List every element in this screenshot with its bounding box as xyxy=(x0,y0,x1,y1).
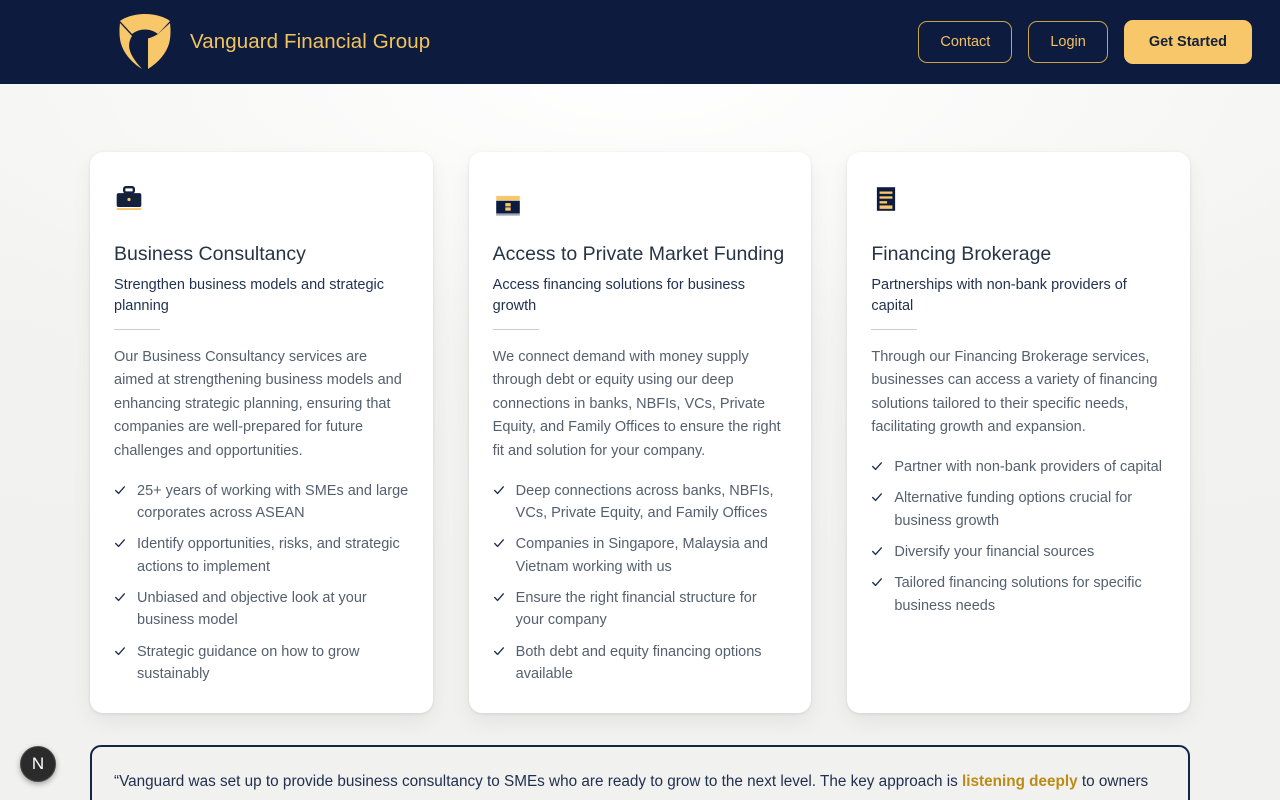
card-subtitle: Strengthen business models and strategic… xyxy=(114,275,409,316)
list-item: Companies in Singapore, Malaysia and Vie… xyxy=(493,533,788,578)
contact-button[interactable]: Contact xyxy=(918,21,1012,64)
briefcase-icon xyxy=(114,184,144,214)
check-icon xyxy=(871,545,883,557)
brand-name: Vanguard Financial Group xyxy=(190,30,430,54)
check-icon xyxy=(871,460,883,472)
page-content: Business Consultancy Strengthen business… xyxy=(0,84,1280,800)
feature-text: Ensure the right financial structure for… xyxy=(516,587,788,632)
list-item: 25+ years of working with SMEs and large… xyxy=(114,480,409,525)
login-button[interactable]: Login xyxy=(1028,21,1107,64)
feature-list: 25+ years of working with SMEs and large… xyxy=(114,480,409,686)
service-card-private-market-funding[interactable]: Access to Private Market Funding Access … xyxy=(469,152,812,713)
check-icon xyxy=(114,645,126,657)
feature-text: Deep connections across banks, NBFIs, VC… xyxy=(516,480,788,525)
card-body: Our Business Consultancy services are ai… xyxy=(114,346,409,464)
card-subtitle: Partnerships with non-bank providers of … xyxy=(871,275,1166,316)
feature-text: Diversify your financial sources xyxy=(894,541,1166,563)
card-title: Access to Private Market Funding xyxy=(493,242,788,266)
card-divider xyxy=(114,329,160,330)
founder-quote-box: “Vanguard was set up to provide business… xyxy=(90,745,1190,800)
quote-text: “Vanguard was set up to provide business… xyxy=(114,769,1166,800)
card-divider xyxy=(871,329,917,330)
service-card-business-consultancy[interactable]: Business Consultancy Strengthen business… xyxy=(90,152,433,713)
check-icon xyxy=(493,591,505,603)
services-cards-row: Business Consultancy Strengthen business… xyxy=(90,152,1190,713)
feature-text: Strategic guidance on how to grow sustai… xyxy=(137,641,409,686)
check-icon xyxy=(114,484,126,496)
feature-text: Identify opportunities, risks, and strat… xyxy=(137,533,409,578)
feature-text: Unbiased and objective look at your busi… xyxy=(137,587,409,632)
get-started-button[interactable]: Get Started xyxy=(1124,20,1252,65)
check-icon xyxy=(871,576,883,588)
list-item: Partner with non-bank providers of capit… xyxy=(871,456,1166,478)
card-title: Business Consultancy xyxy=(114,242,409,266)
card-subtitle: Access financing solutions for business … xyxy=(493,275,788,316)
card-title: Financing Brokerage xyxy=(871,242,1166,266)
card-body: Through our Financing Brokerage services… xyxy=(871,346,1166,441)
site-header: Vanguard Financial Group Contact Login G… xyxy=(0,0,1280,84)
feature-text: Tailored financing solutions for specifi… xyxy=(894,572,1166,617)
quote-part-1: “Vanguard was set up to provide business… xyxy=(114,773,962,790)
list-item: Deep connections across banks, NBFIs, VC… xyxy=(493,480,788,525)
service-card-financing-brokerage[interactable]: Financing Brokerage Partnerships with no… xyxy=(847,152,1190,713)
check-icon xyxy=(493,484,505,496)
feature-list: Partner with non-bank providers of capit… xyxy=(871,456,1166,617)
feature-text: Both debt and equity financing options a… xyxy=(516,641,788,686)
check-icon xyxy=(493,537,505,549)
feature-text: Alternative funding options crucial for … xyxy=(894,487,1166,532)
check-icon xyxy=(871,491,883,503)
list-item: Diversify your financial sources xyxy=(871,541,1166,563)
header-actions: Contact Login Get Started xyxy=(918,20,1252,65)
list-item: Ensure the right financial structure for… xyxy=(493,587,788,632)
nextjs-dev-indicator-badge[interactable]: N xyxy=(20,746,56,782)
list-item: Identify opportunities, risks, and strat… xyxy=(114,533,409,578)
feature-text: Companies in Singapore, Malaysia and Vie… xyxy=(516,533,788,578)
check-icon xyxy=(114,537,126,549)
list-item: Strategic guidance on how to grow sustai… xyxy=(114,641,409,686)
check-icon xyxy=(493,645,505,657)
brand[interactable]: Vanguard Financial Group xyxy=(118,12,430,72)
quote-highlight-1: listening deeply xyxy=(962,773,1078,790)
list-item: Tailored financing solutions for specifi… xyxy=(871,572,1166,617)
wallet-icon xyxy=(493,190,523,220)
document-list-icon xyxy=(871,184,901,214)
list-item: Alternative funding options crucial for … xyxy=(871,487,1166,532)
card-divider xyxy=(493,329,539,330)
card-body: We connect demand with money supply thro… xyxy=(493,346,788,464)
check-icon xyxy=(114,591,126,603)
shield-logo-icon xyxy=(118,12,172,72)
feature-list: Deep connections across banks, NBFIs, VC… xyxy=(493,480,788,686)
feature-text: Partner with non-bank providers of capit… xyxy=(894,456,1166,478)
list-item: Unbiased and objective look at your busi… xyxy=(114,587,409,632)
feature-text: 25+ years of working with SMEs and large… xyxy=(137,480,409,525)
list-item: Both debt and equity financing options a… xyxy=(493,641,788,686)
